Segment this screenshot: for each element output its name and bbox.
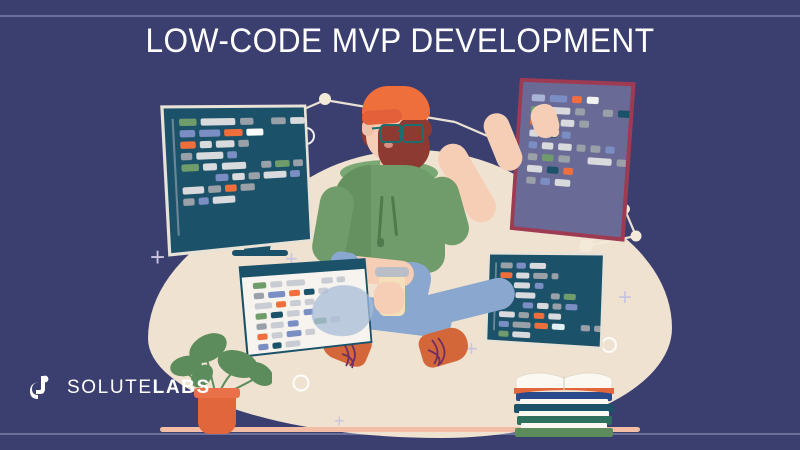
code-block (535, 323, 548, 330)
code-block (272, 342, 282, 349)
code-block (290, 117, 305, 124)
code-block (526, 176, 536, 184)
code-block (528, 141, 537, 148)
code-block (246, 128, 264, 135)
code-block (551, 293, 561, 299)
hoodie-drawstring-knot (377, 238, 384, 247)
code-block (216, 140, 235, 148)
code-block (529, 263, 546, 269)
code-block (537, 303, 548, 309)
solutelabs-s-mark-icon (26, 373, 56, 403)
code-block (239, 118, 253, 125)
code-block (270, 321, 284, 328)
code-block (550, 95, 568, 103)
code-block (199, 141, 212, 149)
glasses-right-lens (402, 124, 424, 143)
code-block (196, 152, 224, 160)
plus-mark-icon: + (618, 286, 632, 310)
code-block (180, 141, 196, 149)
code-block (285, 340, 301, 348)
code-block (179, 119, 197, 127)
code-block (305, 328, 315, 335)
code-block (547, 166, 559, 174)
code-block (528, 153, 538, 161)
code-block (616, 159, 627, 167)
code-block (181, 153, 192, 161)
code-block (532, 94, 546, 102)
code-block (527, 165, 543, 173)
code-block (499, 311, 515, 318)
code-block (241, 183, 255, 191)
fingers (386, 288, 402, 312)
code-block (200, 118, 236, 126)
brand-name-light: SOLUTE (67, 377, 153, 398)
code-block (542, 154, 554, 162)
code-block (516, 272, 529, 278)
code-block (213, 195, 236, 204)
code-block (227, 151, 238, 158)
plus-mark-icon: + (150, 244, 165, 270)
code-block (270, 281, 282, 288)
code-block (321, 277, 332, 284)
code-block (618, 110, 631, 118)
code-block (499, 321, 510, 327)
left-monitor (160, 105, 313, 257)
code-block (257, 333, 267, 340)
code-block (533, 313, 544, 319)
left-monitor-code (164, 107, 310, 253)
code-block (304, 288, 316, 295)
beanie-brim (362, 109, 403, 126)
code-block (254, 293, 264, 300)
code-block (590, 145, 600, 153)
code-block (308, 117, 310, 124)
code-block (513, 321, 531, 328)
code-block (275, 160, 291, 168)
code-block (501, 262, 514, 268)
code-block (540, 178, 550, 186)
code-block (552, 303, 562, 309)
code-block (286, 310, 300, 317)
code-block (542, 142, 554, 150)
brand-logo[interactable]: SOLUTELABS (26, 373, 211, 403)
code-block (514, 282, 530, 288)
code-block (203, 163, 218, 171)
illustration-banner: LOW-CODE MVP DEVELOPMENT + + + + + (0, 0, 800, 450)
code-block (558, 155, 570, 163)
code-block (182, 186, 204, 195)
code-block (572, 96, 582, 103)
code-block (551, 273, 559, 279)
code-block (517, 263, 526, 269)
code-block (208, 185, 221, 193)
code-block (555, 179, 571, 187)
code-block (224, 129, 243, 136)
code-block (587, 157, 611, 166)
code-block (579, 120, 589, 128)
code-block (336, 276, 345, 283)
code-block (286, 330, 301, 338)
book-stack (512, 392, 616, 438)
code-block (267, 291, 285, 298)
brand-name: SOLUTELABS (67, 377, 211, 399)
left-monitor-base (232, 250, 288, 256)
code-block (562, 131, 571, 139)
code-block (576, 144, 585, 152)
code-block (258, 343, 268, 350)
code-block (255, 313, 267, 320)
code-block (271, 332, 283, 339)
code-block (580, 325, 590, 332)
code-block (516, 292, 536, 299)
code-block (594, 326, 603, 333)
code-block (238, 140, 248, 147)
code-block (264, 171, 287, 179)
laptop-screen (239, 258, 373, 357)
code-block (513, 331, 531, 338)
code-block (290, 170, 300, 177)
top-right-board (510, 78, 636, 242)
code-block (253, 282, 267, 289)
plus-mark-icon: + (334, 412, 345, 430)
code-block (548, 313, 561, 320)
code-block (289, 300, 301, 307)
code-block (287, 320, 299, 327)
code-block (605, 146, 615, 154)
code-block (498, 330, 509, 336)
code-block (276, 301, 286, 308)
code-block (198, 197, 209, 205)
page-title: LOW-CODE MVP DEVELOPMENT (28, 22, 772, 61)
code-block (221, 162, 246, 170)
code-block (534, 283, 543, 289)
code-block (519, 312, 530, 318)
code-block (587, 97, 599, 105)
code-block (181, 164, 199, 172)
code-block (248, 172, 260, 180)
code-block (560, 119, 574, 127)
code-block (563, 167, 573, 175)
code-block (216, 174, 229, 182)
code-block (261, 161, 271, 168)
code-block (286, 279, 305, 286)
brand-name-bold: LABS (153, 377, 211, 398)
code-block (575, 108, 585, 116)
top-divider-rule (0, 15, 800, 17)
code-block (271, 117, 287, 124)
code-block (533, 273, 548, 279)
glasses-bridge (398, 130, 403, 132)
code-block (293, 159, 303, 166)
code-block (558, 143, 572, 151)
code-block (288, 290, 300, 297)
code-block (551, 323, 564, 330)
code-block (224, 184, 237, 192)
code-block (256, 323, 266, 330)
code-block (522, 302, 533, 308)
top-right-board-code (514, 82, 632, 237)
code-block (179, 130, 195, 138)
coffee-cup-lid (375, 267, 409, 277)
code-block (199, 129, 220, 137)
glasses-left-lens (380, 124, 402, 143)
code-block (232, 173, 244, 181)
code-block (565, 304, 577, 311)
code-block (564, 294, 576, 300)
code-block (183, 198, 194, 206)
code-block (603, 109, 614, 117)
code-block (271, 311, 283, 318)
code-block (254, 302, 272, 310)
